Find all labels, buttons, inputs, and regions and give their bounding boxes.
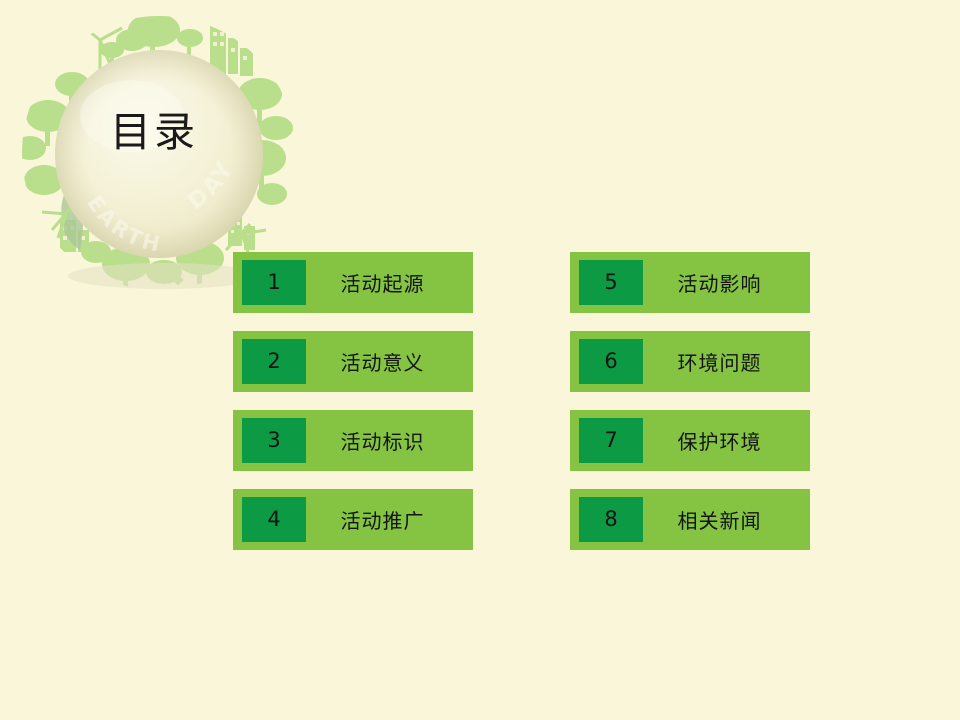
menu-item-6[interactable]: 6 环境问题 [570, 331, 810, 392]
menu-item-label: 活动标识 [306, 426, 473, 455]
menu-column-left: 1 活动起源 2 活动意义 3 活动标识 4 活动推广 [233, 252, 473, 550]
menu-item-number-badge: 7 [579, 418, 643, 463]
menu-item-label: 活动影响 [643, 268, 810, 297]
menu-item-8[interactable]: 8 相关新闻 [570, 489, 810, 550]
menu-item-4[interactable]: 4 活动推广 [233, 489, 473, 550]
menu-item-number-badge: 2 [242, 339, 306, 384]
menu-item-number-badge: 3 [242, 418, 306, 463]
menu-item-label: 相关新闻 [643, 505, 810, 534]
menu-item-label: 保护环境 [643, 426, 810, 455]
svg-text:EARTH: EARTH [82, 191, 164, 257]
menu-item-2[interactable]: 2 活动意义 [233, 331, 473, 392]
menu-column-right: 5 活动影响 6 环境问题 7 保护环境 8 相关新闻 [570, 252, 810, 550]
menu-item-number-badge: 5 [579, 260, 643, 305]
menu-item-3[interactable]: 3 活动标识 [233, 410, 473, 471]
menu-item-label: 活动意义 [306, 347, 473, 376]
menu-item-number-badge: 8 [579, 497, 643, 542]
slide-canvas: DAY EARTH 目录 1 活动起源 2 活动意义 3 活动标识 4 [0, 0, 960, 720]
menu-item-label: 活动起源 [306, 268, 473, 297]
menu-item-1[interactable]: 1 活动起源 [233, 252, 473, 313]
menu-item-7[interactable]: 7 保护环境 [570, 410, 810, 471]
page-title: 目录 [110, 112, 198, 153]
menu-item-5[interactable]: 5 活动影响 [570, 252, 810, 313]
menu-item-number-badge: 1 [242, 260, 306, 305]
menu-item-label: 环境问题 [643, 347, 810, 376]
menu-item-label: 活动推广 [306, 505, 473, 534]
svg-text:DAY: DAY [183, 156, 240, 216]
menu-item-number-badge: 6 [579, 339, 643, 384]
menu-item-number-badge: 4 [242, 497, 306, 542]
